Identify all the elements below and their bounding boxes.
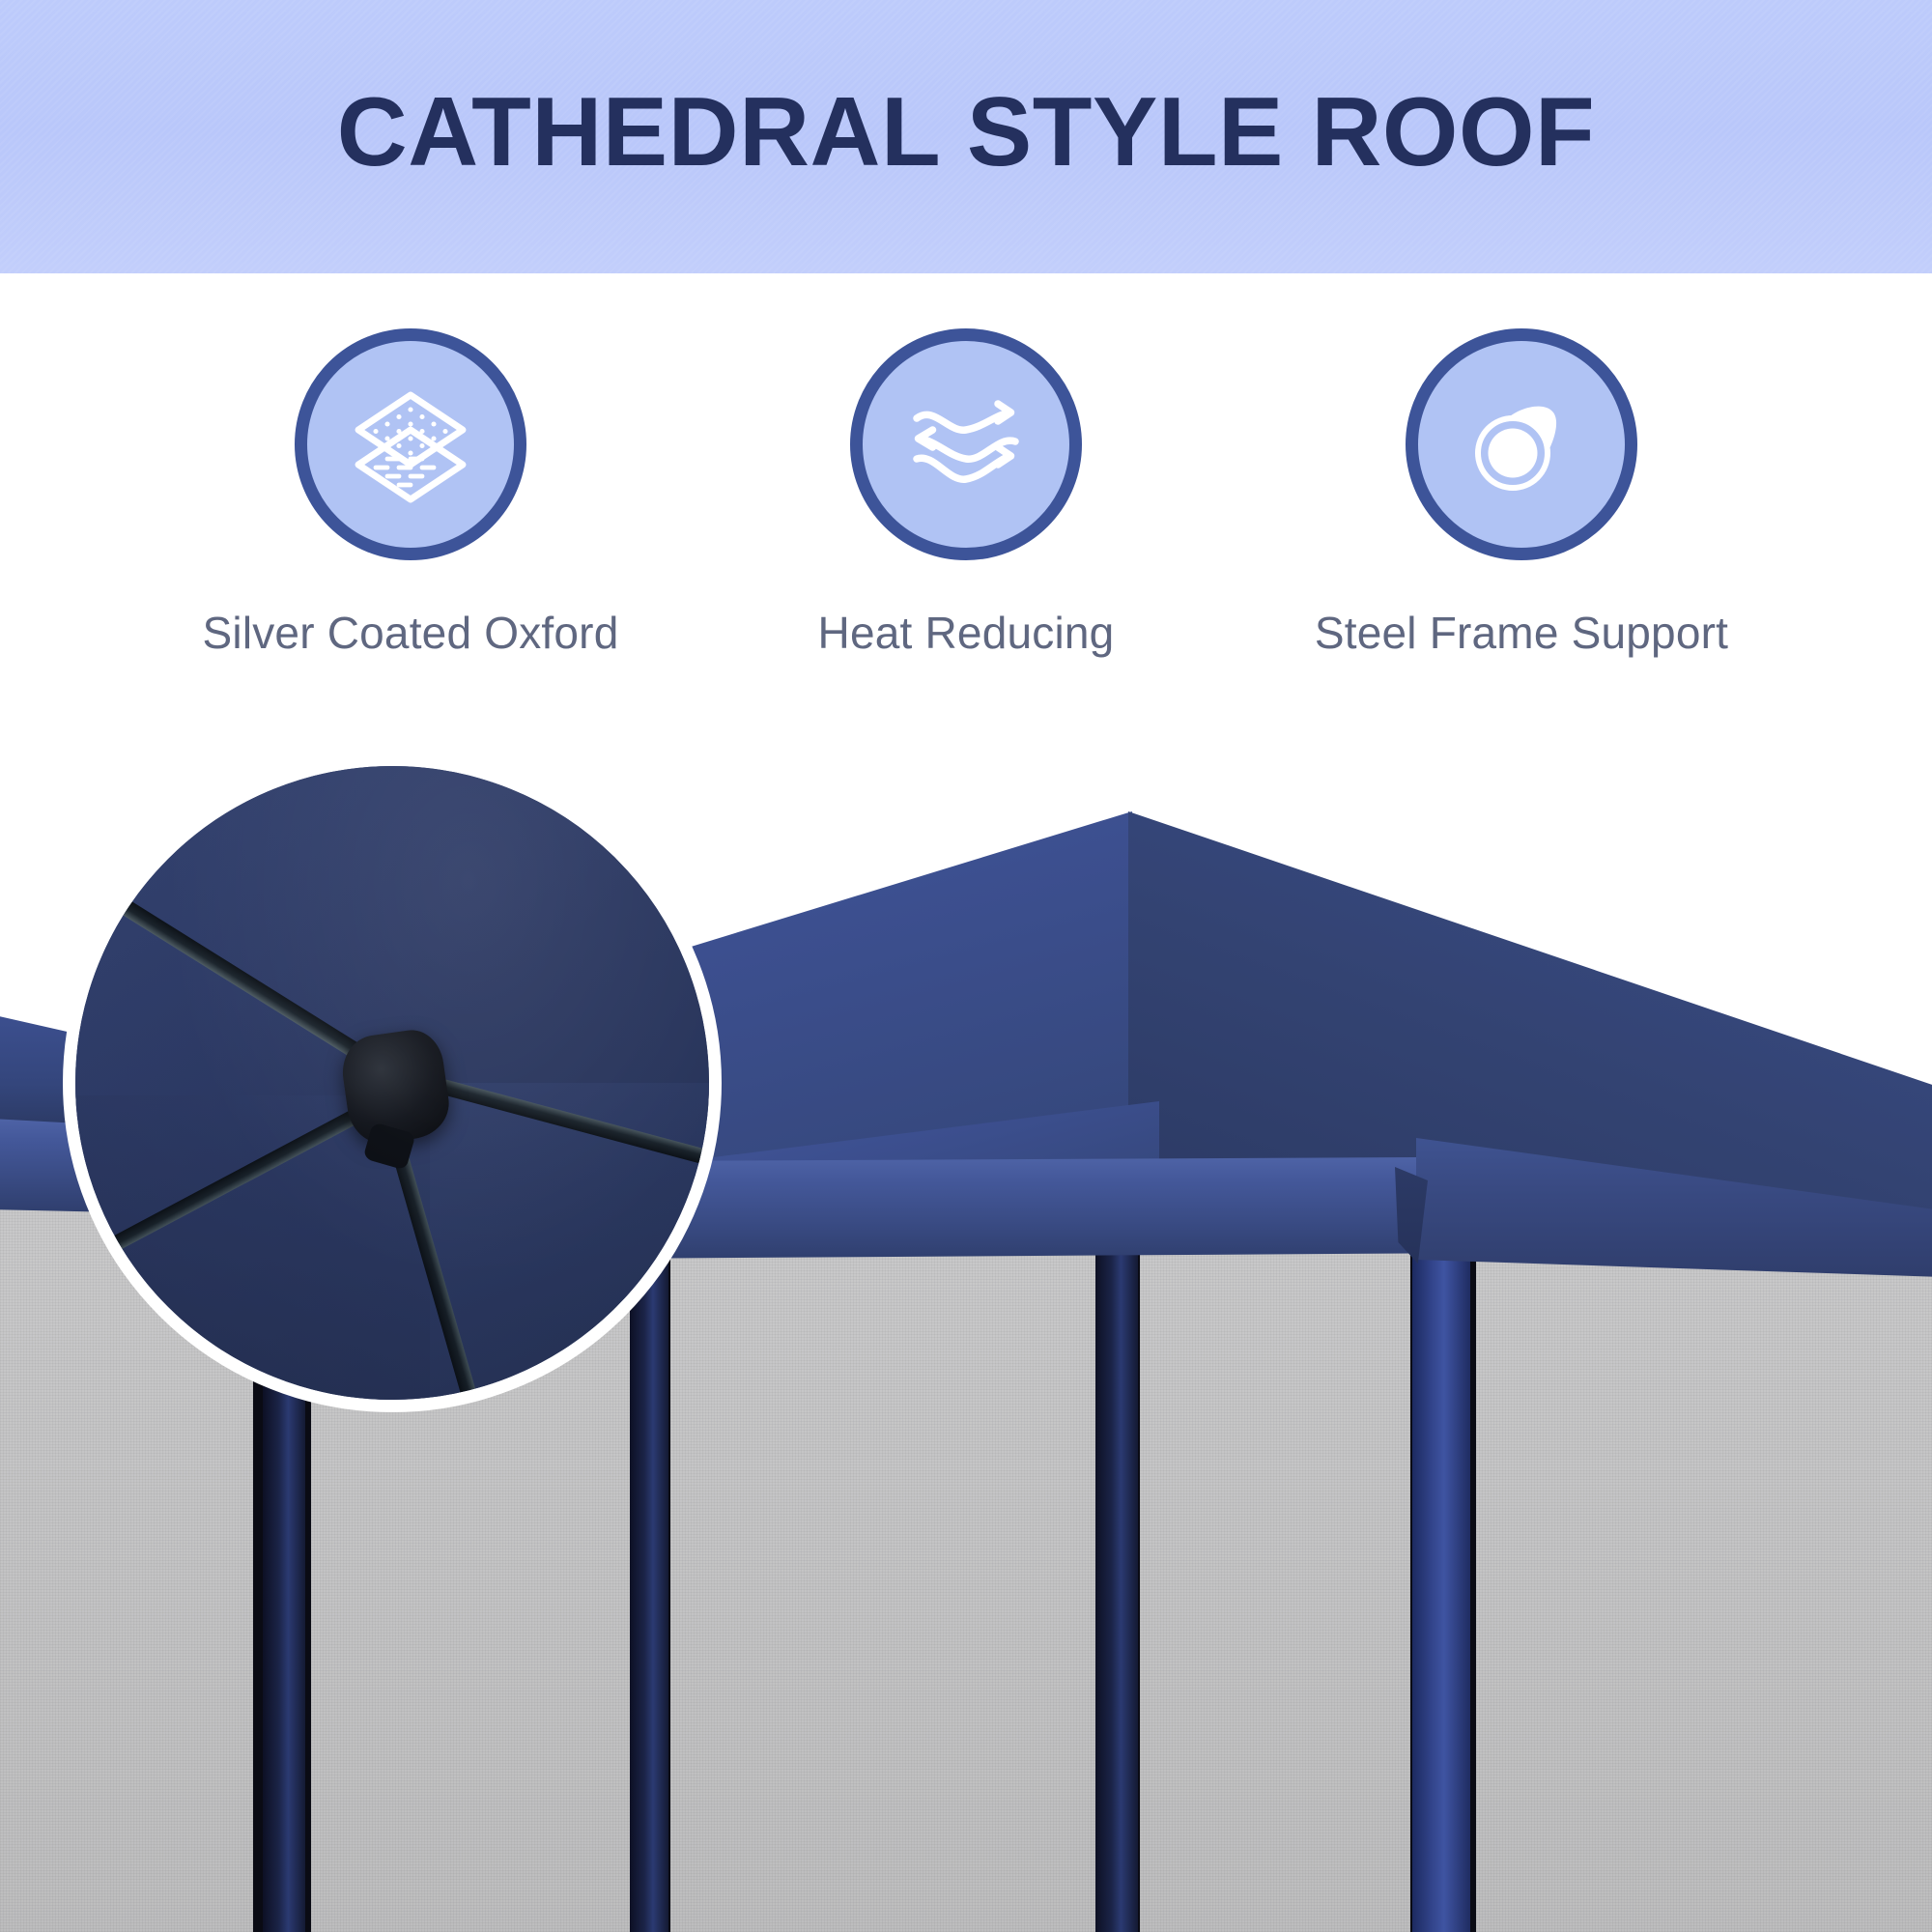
feature-item-silver-coated-oxford: Silver Coated Oxford bbox=[133, 328, 689, 659]
feature-label: Silver Coated Oxford bbox=[203, 607, 619, 659]
airflow-waves-icon bbox=[894, 372, 1038, 517]
magnifier-content bbox=[75, 766, 709, 1400]
feature-icon-badge bbox=[1406, 328, 1637, 560]
mesh-panel bbox=[1140, 1180, 1410, 1932]
feature-label: Heat Reducing bbox=[818, 607, 1115, 659]
mesh-panel bbox=[1476, 1194, 1932, 1932]
steel-tube-icon bbox=[1449, 372, 1594, 517]
product-feature-infographic: CATHEDRAL STYLE ROOF bbox=[0, 0, 1932, 1932]
feature-label: Steel Frame Support bbox=[1315, 607, 1728, 659]
feature-item-steel-frame-support: Steel Frame Support bbox=[1244, 328, 1800, 659]
page-title: CATHEDRAL STYLE ROOF bbox=[0, 0, 1932, 273]
gazebo-pole bbox=[1095, 1159, 1138, 1932]
gazebo-corner-pole bbox=[1412, 1159, 1470, 1932]
feature-item-heat-reducing: Heat Reducing bbox=[689, 328, 1244, 659]
feature-row: Silver Coated Oxford bbox=[0, 328, 1932, 715]
layered-fabric-icon bbox=[338, 372, 483, 517]
product-photo bbox=[0, 734, 1932, 1932]
header-band: CATHEDRAL STYLE ROOF bbox=[0, 0, 1932, 273]
feature-icon-badge bbox=[295, 328, 526, 560]
fabric-highlight bbox=[75, 766, 709, 1400]
feature-icon-badge bbox=[850, 328, 1082, 560]
magnifier-inset bbox=[63, 753, 722, 1412]
mesh-panel bbox=[670, 1188, 1095, 1932]
